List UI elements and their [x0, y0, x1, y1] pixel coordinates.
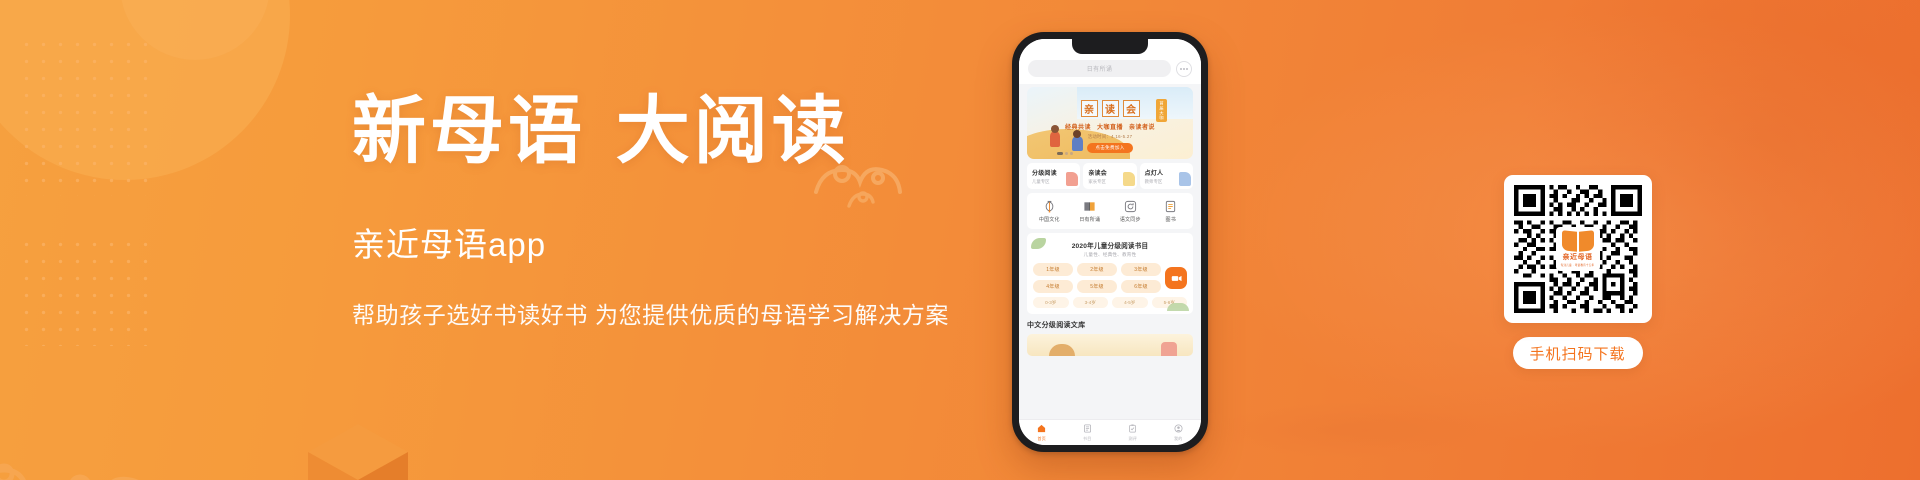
app-library-section: 中文分级阅读文库	[1027, 320, 1193, 356]
hero-cta-button[interactable]: 点击免费加入	[1087, 143, 1132, 153]
tab-home[interactable]: 首页	[1019, 424, 1065, 442]
app-booklist-card: 2020年儿童分级阅读书目 儿童性、经典性、教育性 1年级 2年级 3年级 4年…	[1027, 233, 1193, 314]
booklist-title: 2020年儿童分级阅读书目	[1033, 240, 1187, 250]
promo-banner: 新母语 大阅读 亲近母语app 帮助孩子选好书读好书 为您提供优质的母语学习解决…	[0, 0, 1920, 480]
video-play-icon[interactable]	[1165, 267, 1187, 289]
grade-button[interactable]: 6年级	[1121, 280, 1161, 293]
quick-icon-books[interactable]: 图书	[1151, 200, 1192, 223]
tab-label: 书目	[1083, 436, 1091, 442]
grade-button[interactable]: 1年级	[1033, 263, 1073, 276]
entry-card-graded-reading[interactable]: 分级阅读 儿童专区	[1027, 163, 1080, 189]
search-input[interactable]: 日有所诵	[1028, 60, 1171, 77]
app-hero-banner[interactable]: 亲 读 会 首届大咖 经典共读 大咖直播 亲读者说 活动时间：4.16-5.27…	[1027, 87, 1193, 159]
quick-icon-label: 语文同步	[1120, 216, 1141, 223]
hero-date: 活动时间：4.16-5.27	[1088, 134, 1133, 140]
page-title: 新母语 大阅读	[352, 92, 1052, 172]
hero-child-illustration-1	[1050, 131, 1060, 147]
library-shelf-banner[interactable]	[1027, 334, 1193, 356]
shelf-item-2	[1161, 342, 1177, 356]
quick-icon-label: 中国文化	[1039, 216, 1060, 223]
shelf-item-1	[1049, 344, 1075, 356]
hero-title-char: 会	[1123, 100, 1140, 117]
qr-card: 亲近母语 专注儿童 · 母语教育十五年	[1504, 175, 1652, 323]
grade-button[interactable]: 2年级	[1077, 263, 1117, 276]
quick-icon-label: 日有所诵	[1079, 216, 1100, 223]
tab-booklist[interactable]: 书目	[1065, 424, 1111, 442]
dot-grid-lower	[18, 236, 148, 346]
booklist-subtitle: 儿童性、经典性、教育性	[1033, 252, 1187, 258]
entry-card-parent-club[interactable]: 亲读会 家长专区	[1083, 163, 1136, 189]
dot-grid-upper	[18, 36, 148, 196]
headline-block: 新母语 大阅读 亲近母语app 帮助孩子选好书读好书 为您提供优质的母语学习解决…	[352, 92, 1052, 330]
lantern-icon	[1043, 200, 1056, 213]
library-title: 中文分级阅读文库	[1027, 320, 1193, 330]
app-name-subtitle: 亲近母语app	[352, 218, 1052, 266]
hero-sub-item: 亲读者说	[1129, 122, 1155, 131]
cloud-swirl-bottom-left	[40, 442, 160, 480]
qr-code-image: 亲近母语 专注儿童 · 母语教育十五年	[1514, 185, 1642, 313]
clipboard-icon	[1128, 424, 1138, 434]
phone-notch	[1072, 39, 1148, 54]
logo-title: 亲近母语	[1563, 252, 1593, 262]
bookmark-icon	[1179, 172, 1191, 186]
book-open-icon	[1083, 200, 1096, 213]
document-icon	[1164, 200, 1177, 213]
age-button[interactable]: 0-3岁	[1033, 297, 1069, 308]
tab-label: 首页	[1038, 436, 1046, 442]
hero-carousel-dots[interactable]	[1057, 152, 1073, 155]
scan-download-button[interactable]: 手机扫码下载	[1513, 337, 1643, 369]
hero-sub-item: 经典共读	[1065, 122, 1091, 131]
grade-row-2: 4年级 5年级 6年级	[1033, 280, 1161, 293]
qr-block: 亲近母语 专注儿童 · 母语教育十五年 手机扫码下载	[1485, 175, 1670, 369]
phone-screen: 日有所诵 亲 读 会	[1019, 39, 1201, 445]
tab-assessment[interactable]: 测评	[1110, 424, 1156, 442]
hero-subtitle: 经典共读 大咖直播 亲读者说	[1065, 122, 1155, 131]
phone-ground-shadow	[1210, 402, 1510, 458]
quick-icon-chinese-culture[interactable]: 中国文化	[1029, 200, 1070, 223]
circle-blob-top-left-small	[120, 0, 270, 60]
circle-blob-top-left	[0, 0, 290, 180]
age-selector: 0-3岁 3-4岁 4-5岁 5-6岁	[1033, 297, 1187, 308]
quick-icon-label: 图书	[1166, 216, 1176, 223]
book-page-right	[1579, 230, 1594, 252]
user-icon	[1173, 424, 1183, 434]
grade-row-1: 1年级 2年级 3年级	[1033, 263, 1161, 276]
bookmark-icon	[1066, 172, 1078, 186]
cube-decoration	[300, 416, 416, 480]
hero-flag-badge: 首届大咖	[1156, 99, 1167, 122]
app-tab-bar: 首页 书目	[1019, 419, 1201, 445]
phone-mockup: 日有所诵 亲 读 会	[1012, 32, 1208, 452]
leaf-decoration-bottom	[1167, 303, 1189, 311]
tab-profile[interactable]: 我的	[1156, 424, 1202, 442]
more-menu-icon[interactable]	[1176, 61, 1192, 77]
home-icon	[1037, 424, 1047, 434]
qr-center-logo: 亲近母语 专注儿童 · 母语教育十五年	[1556, 227, 1600, 271]
sync-icon	[1124, 200, 1137, 213]
app-quick-icons: 中国文化 日有所诵	[1027, 193, 1193, 229]
grade-columns: 1年级 2年级 3年级 4年级 5年级 6年级	[1033, 263, 1161, 293]
grade-button[interactable]: 4年级	[1033, 280, 1073, 293]
book-page-left	[1562, 230, 1577, 252]
logo-subtitle: 专注儿童 · 母语教育十五年	[1561, 263, 1595, 267]
age-button[interactable]: 3-4岁	[1073, 297, 1109, 308]
cloud-swirl-bottom-left-2	[0, 434, 80, 480]
entry-card-teacher[interactable]: 点灯人 教师专区	[1140, 163, 1193, 189]
grade-selector: 1年级 2年级 3年级 4年级 5年级 6年级	[1033, 263, 1187, 293]
hero-title: 亲 读 会	[1081, 100, 1140, 117]
tab-label: 测评	[1129, 436, 1137, 442]
hero-sub-item: 大咖直播	[1097, 122, 1123, 131]
hero-title-char: 读	[1102, 100, 1119, 117]
app-entry-cards: 分级阅读 儿童专区 亲读会 家长专区 点灯人 教师专区	[1027, 163, 1193, 189]
tab-label: 我的	[1174, 436, 1182, 442]
tagline-text: 帮助孩子选好书读好书 为您提供优质的母语学习解决方案	[352, 296, 1052, 330]
hero-title-char: 亲	[1081, 100, 1098, 117]
list-icon	[1082, 424, 1092, 434]
app-content-scroll[interactable]: 日有所诵 亲 读 会	[1019, 39, 1201, 419]
bookmark-icon	[1123, 172, 1135, 186]
grade-button[interactable]: 5年级	[1077, 280, 1117, 293]
grade-button[interactable]: 3年级	[1121, 263, 1161, 276]
age-button[interactable]: 4-5岁	[1112, 297, 1148, 308]
hero-child-illustration-2	[1072, 136, 1083, 151]
book-logo-icon	[1562, 231, 1594, 251]
quick-icon-textbook-sync[interactable]: 语文同步	[1110, 200, 1151, 223]
quick-icon-daily-recitation[interactable]: 日有所诵	[1070, 200, 1111, 223]
